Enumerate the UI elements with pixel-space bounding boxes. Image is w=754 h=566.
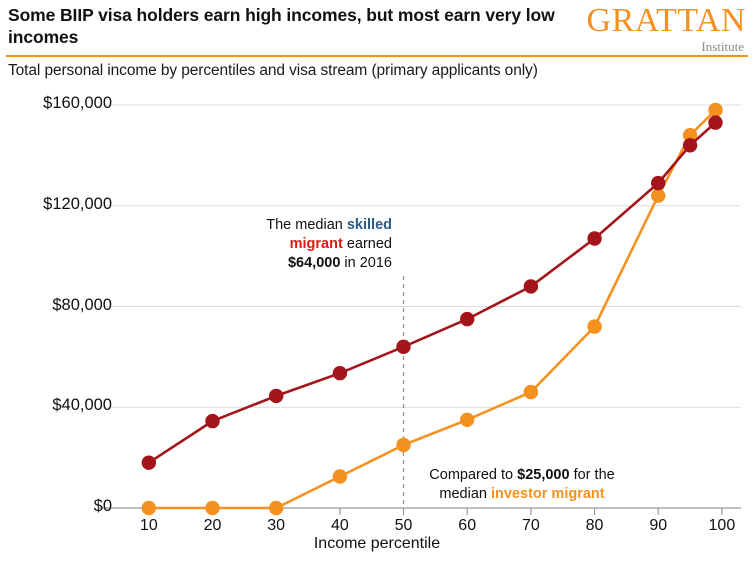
xtick-label-90: 90 bbox=[636, 517, 680, 535]
datapoint-skilled-migrant-p99 bbox=[708, 115, 722, 129]
xtick-label-100: 100 bbox=[700, 517, 744, 535]
datapoint-skilled-migrant-p80 bbox=[587, 231, 601, 245]
datapoint-skilled-migrant-p60 bbox=[460, 312, 474, 326]
ytick-label-160000: $160,000 bbox=[0, 94, 112, 113]
xtick-label-70: 70 bbox=[509, 517, 553, 535]
datapoint-investor-migrant-p70 bbox=[524, 385, 538, 399]
series-line-skilled-migrant bbox=[149, 123, 716, 463]
ytick-label-120000: $120,000 bbox=[0, 195, 112, 214]
annotation-median-investor: Compared to $25,000 for the median inves… bbox=[372, 466, 672, 504]
datapoint-investor-migrant-p90 bbox=[651, 189, 665, 203]
datapoint-investor-migrant-p80 bbox=[587, 319, 601, 333]
datapoint-investor-migrant-p30 bbox=[269, 501, 283, 515]
xtick-label-10: 10 bbox=[127, 517, 171, 535]
annotation-median-skilled: The median skilled migrant earned $64,00… bbox=[180, 216, 392, 273]
anno2-amount: $25,000 bbox=[517, 467, 569, 483]
xtick-label-50: 50 bbox=[382, 517, 426, 535]
anno1-skilled-word: skilled bbox=[347, 217, 392, 233]
x-axis-title: Income percentile bbox=[0, 535, 754, 553]
anno1-migrant-word: migrant bbox=[290, 236, 343, 252]
ytick-label-40000: $40,000 bbox=[0, 396, 112, 415]
xtick-label-80: 80 bbox=[573, 517, 617, 535]
xtick-label-60: 60 bbox=[445, 517, 489, 535]
datapoint-investor-migrant-p50 bbox=[396, 438, 410, 452]
datapoint-investor-migrant-p99 bbox=[708, 103, 722, 117]
datapoint-skilled-migrant-p50 bbox=[396, 340, 410, 354]
ytick-label-0: $0 bbox=[0, 497, 112, 516]
anno2-line2a: median bbox=[439, 486, 491, 502]
datapoint-investor-migrant-p10 bbox=[142, 501, 156, 515]
datapoint-investor-migrant-p60 bbox=[460, 413, 474, 427]
datapoint-investor-migrant-p20 bbox=[205, 501, 219, 515]
ytick-label-80000: $80,000 bbox=[0, 296, 112, 315]
chart-page: Some BIIP visa holders earn high incomes… bbox=[0, 0, 754, 566]
datapoint-skilled-migrant-p70 bbox=[524, 279, 538, 293]
datapoint-skilled-migrant-p40 bbox=[333, 366, 347, 380]
anno1-line1a: The median bbox=[266, 217, 347, 233]
series-line-investor-migrant bbox=[149, 110, 716, 508]
anno1-line2b: earned bbox=[343, 236, 392, 252]
datapoint-skilled-migrant-p90 bbox=[651, 176, 665, 190]
xtick-label-30: 30 bbox=[254, 517, 298, 535]
anno1-line3b: in 2016 bbox=[340, 255, 392, 271]
anno2-line1c: for the bbox=[570, 467, 615, 483]
xtick-label-20: 20 bbox=[191, 517, 235, 535]
datapoint-skilled-migrant-p10 bbox=[142, 456, 156, 470]
datapoint-skilled-migrant-p30 bbox=[269, 389, 283, 403]
datapoint-investor-migrant-p40 bbox=[333, 469, 347, 483]
xtick-label-40: 40 bbox=[318, 517, 362, 535]
datapoint-skilled-migrant-p20 bbox=[205, 414, 219, 428]
anno1-amount: $64,000 bbox=[288, 255, 340, 271]
datapoint-skilled-migrant-p95 bbox=[683, 138, 697, 152]
anno2-investor-word: investor migrant bbox=[491, 486, 605, 502]
anno2-line1a: Compared to bbox=[429, 467, 517, 483]
